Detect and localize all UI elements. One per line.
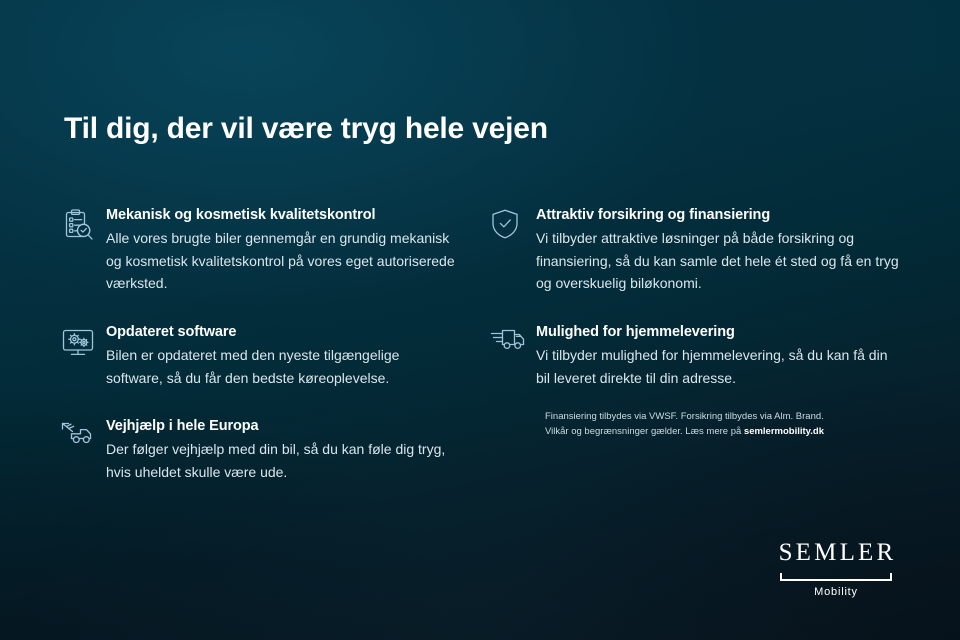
legal-fineprint: Finansiering tilbydes via VWSF. Forsikri… [545, 409, 915, 440]
semler-mobility-logo: SEMLER Mobility [770, 540, 902, 598]
logo-rule-bar [780, 579, 892, 581]
fineprint-line-2: Vilkår og begrænsninger gælder. Læs mere… [545, 424, 915, 439]
clipboard-magnifier-icon [60, 206, 106, 248]
feature-body: Bilen er opdateret med den nyeste tilgæn… [106, 344, 460, 389]
feature-body: Der følger vejhjælp med din bil, så du k… [106, 438, 460, 483]
feature-title: Attraktiv forsikring og finansiering [536, 207, 905, 223]
feature-column-left: Mekanisk og kosmetisk kvalitetskontrol A… [60, 206, 460, 512]
feature-text: Opdateret software Bilen er opdateret me… [106, 323, 460, 389]
logo-subtitle: Mobility [770, 586, 902, 598]
logo-wordmark: SEMLER [770, 540, 902, 565]
feature-title: Mulighed for hjemmelevering [536, 324, 905, 340]
semlermobility-link[interactable]: semlermobility.dk [744, 426, 824, 437]
feature-body: Alle vores brugte biler gennemgår en gru… [106, 227, 460, 295]
fineprint-line-2-text: Vilkår og begrænsninger gælder. Læs mere… [545, 426, 744, 437]
feature-title: Mekanisk og kosmetisk kvalitetskontrol [106, 207, 460, 223]
feature-item-quality-control: Mekanisk og kosmetisk kvalitetskontrol A… [60, 206, 460, 295]
feature-text: Mulighed for hjemmelevering Vi tilbyder … [536, 323, 905, 389]
fineprint-line-1: Finansiering tilbydes via VWSF. Forsikri… [545, 409, 915, 424]
delivery-truck-icon [490, 323, 536, 365]
logo-bracket-rule [780, 572, 892, 581]
feature-body: Vi tilbyder attraktive løsninger på både… [536, 227, 905, 295]
shield-check-icon [490, 206, 536, 248]
logo-rule-tick-right [890, 573, 892, 581]
tow-truck-icon [60, 417, 106, 459]
feature-text: Attraktiv forsikring og finansiering Vi … [536, 206, 905, 295]
feature-title: Opdateret software [106, 324, 460, 340]
feature-column-right: Attraktiv forsikring og finansiering Vi … [490, 206, 905, 417]
feature-body: Vi tilbyder mulighed for hjemmelevering,… [536, 344, 905, 389]
page-title: Til dig, der vil være tryg hele vejen [64, 112, 548, 146]
feature-item-updated-software: Opdateret software Bilen er opdateret me… [60, 323, 460, 389]
feature-item-insurance-financing: Attraktiv forsikring og finansiering Vi … [490, 206, 905, 295]
slide-canvas: Til dig, der vil være tryg hele vejen [0, 0, 960, 640]
feature-title: Vejhjælp i hele Europa [106, 418, 460, 434]
feature-item-roadside-assistance: Vejhjælp i hele Europa Der følger vejhjæ… [60, 417, 460, 483]
feature-text: Mekanisk og kosmetisk kvalitetskontrol A… [106, 206, 460, 295]
monitor-gears-icon [60, 323, 106, 365]
feature-item-home-delivery: Mulighed for hjemmelevering Vi tilbyder … [490, 323, 905, 389]
feature-text: Vejhjælp i hele Europa Der følger vejhjæ… [106, 417, 460, 483]
